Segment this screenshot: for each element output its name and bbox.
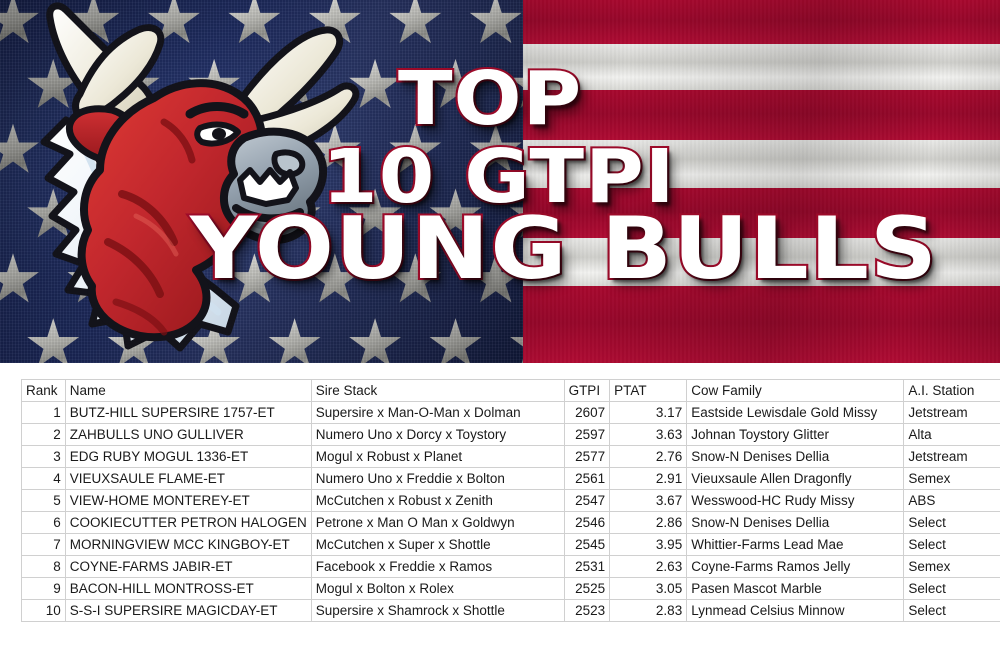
cell-cow-family[interactable]: Snow-N Denises Dellia <box>687 512 904 534</box>
cell-ai-station[interactable]: Jetstream <box>904 402 1000 424</box>
star-icon <box>509 188 523 242</box>
cell-name[interactable]: BUTZ-HILL SUPERSIRE 1757-ET <box>65 402 311 424</box>
col-header-cow-family[interactable]: Cow Family <box>687 380 904 402</box>
cell-name[interactable]: EDG RUBY MOGUL 1336-ET <box>65 446 311 468</box>
cell-gtpi[interactable]: 2523 <box>564 600 610 622</box>
cell-ai-station[interactable]: Semex <box>904 468 1000 490</box>
cell-ptat[interactable]: 2.86 <box>610 512 687 534</box>
star-icon <box>429 59 483 113</box>
table-row[interactable]: 2ZAHBULLS UNO GULLIVERNumero Uno x Dorcy… <box>22 424 1000 446</box>
table-row[interactable]: 3EDG RUBY MOGUL 1336-ETMogul x Robust x … <box>22 446 1000 468</box>
table-header-row: Rank Name Sire Stack GTPI PTAT Cow Famil… <box>22 380 1000 402</box>
cell-gtpi[interactable]: 2607 <box>564 402 610 424</box>
cell-rank[interactable]: 2 <box>22 424 66 446</box>
cell-name[interactable]: MORNINGVIEW MCC KINGBOY-ET <box>65 534 311 556</box>
cell-ptat[interactable]: 2.76 <box>610 446 687 468</box>
cell-sire-stack[interactable]: Numero Uno x Freddie x Bolton <box>311 468 564 490</box>
page-root: TOP 10 GTPI YOUNG BULLS Rank Name Sire S… <box>0 0 1000 645</box>
cell-name[interactable]: S-S-I SUPERSIRE MAGICDAY-ET <box>65 600 311 622</box>
star-icon <box>388 0 442 48</box>
table-row[interactable]: 7MORNINGVIEW MCC KINGBOY-ETMcCutchen x S… <box>22 534 1000 556</box>
cell-ptat[interactable]: 2.63 <box>610 556 687 578</box>
cell-sire-stack[interactable]: McCutchen x Robust x Zenith <box>311 490 564 512</box>
cell-sire-stack[interactable]: Supersire x Shamrock x Shottle <box>311 600 564 622</box>
cell-sire-stack[interactable]: Numero Uno x Dorcy x Toystory <box>311 424 564 446</box>
table-row[interactable]: 6COOKIECUTTER PETRON HALOGENPetrone x Ma… <box>22 512 1000 534</box>
cell-rank[interactable]: 3 <box>22 446 66 468</box>
star-icon <box>509 318 523 363</box>
cell-name[interactable]: ZAHBULLS UNO GULLIVER <box>65 424 311 446</box>
cell-sire-stack[interactable]: Facebook x Freddie x Ramos <box>311 556 564 578</box>
cell-gtpi[interactable]: 2545 <box>564 534 610 556</box>
cell-gtpi[interactable]: 2561 <box>564 468 610 490</box>
cell-cow-family[interactable]: Pasen Mascot Marble <box>687 578 904 600</box>
bull-mascot-logo <box>4 2 374 354</box>
table-row[interactable]: 4VIEUXSAULE FLAME-ETNumero Uno x Freddie… <box>22 468 1000 490</box>
bull-rankings-table: Rank Name Sire Stack GTPI PTAT Cow Famil… <box>21 379 1000 627</box>
cell-cow-family[interactable]: Eastside Lewisdale Gold Missy <box>687 402 904 424</box>
cell-rank[interactable]: 1 <box>22 402 66 424</box>
cell-ai-station[interactable]: Select <box>904 534 1000 556</box>
table-row[interactable]: 9BACON-HILL MONTROSS-ETMogul x Bolton x … <box>22 578 1000 600</box>
cell-ai-station[interactable]: Select <box>904 578 1000 600</box>
cell-cow-family[interactable]: Coyne-Farms Ramos Jelly <box>687 556 904 578</box>
cell-rank[interactable]: 10 <box>22 600 66 622</box>
col-header-ai-station[interactable]: A.I. Station <box>904 380 1000 402</box>
cell-cow-family[interactable]: Whittier-Farms Lead Mae <box>687 534 904 556</box>
col-header-gtpi[interactable]: GTPI <box>564 380 610 402</box>
cell-rank[interactable]: 9 <box>22 578 66 600</box>
table-row[interactable]: 5VIEW-HOME MONTEREY-ETMcCutchen x Robust… <box>22 490 1000 512</box>
cell-ptat[interactable]: 3.67 <box>610 490 687 512</box>
bull-muzzle <box>224 132 323 240</box>
cell-ptat[interactable]: 3.95 <box>610 534 687 556</box>
cell-gtpi[interactable]: 2577 <box>564 446 610 468</box>
cell-gtpi[interactable]: 2525 <box>564 578 610 600</box>
cell-ai-station[interactable]: Alta <box>904 424 1000 446</box>
star-icon <box>429 188 483 242</box>
cell-sire-stack[interactable]: Petrone x Man O Man x Goldwyn <box>311 512 564 534</box>
table-row[interactable]: 1BUTZ-HILL SUPERSIRE 1757-ETSupersire x … <box>22 402 1000 424</box>
col-header-sire-stack[interactable]: Sire Stack <box>311 380 564 402</box>
cell-rank[interactable]: 6 <box>22 512 66 534</box>
cell-cow-family[interactable]: Vieuxsaule Allen Dragonfly <box>687 468 904 490</box>
cell-name[interactable]: COOKIECUTTER PETRON HALOGEN <box>65 512 311 534</box>
cell-cow-family[interactable]: Lynmead Celsius Minnow <box>687 600 904 622</box>
star-icon <box>469 253 523 307</box>
cell-rank[interactable]: 5 <box>22 490 66 512</box>
cell-ptat[interactable]: 3.63 <box>610 424 687 446</box>
star-icon <box>429 318 483 363</box>
cell-sire-stack[interactable]: Supersire x Man-O-Man x Dolman <box>311 402 564 424</box>
cell-ai-station[interactable]: ABS <box>904 490 1000 512</box>
col-header-rank[interactable]: Rank <box>22 380 66 402</box>
cell-ai-station[interactable]: Jetstream <box>904 446 1000 468</box>
cell-gtpi[interactable]: 2547 <box>564 490 610 512</box>
star-icon <box>509 59 523 113</box>
star-icon <box>469 124 523 178</box>
cell-name[interactable]: VIEW-HOME MONTEREY-ET <box>65 490 311 512</box>
cell-ptat[interactable]: 2.83 <box>610 600 687 622</box>
star-icon <box>469 0 523 48</box>
col-header-ptat[interactable]: PTAT <box>610 380 687 402</box>
star-icon <box>388 253 442 307</box>
star-icon <box>388 124 442 178</box>
cell-name[interactable]: BACON-HILL MONTROSS-ET <box>65 578 311 600</box>
cell-gtpi[interactable]: 2531 <box>564 556 610 578</box>
cell-sire-stack[interactable]: Mogul x Robust x Planet <box>311 446 564 468</box>
cell-name[interactable]: COYNE-FARMS JABIR-ET <box>65 556 311 578</box>
cell-gtpi[interactable]: 2597 <box>564 424 610 446</box>
table-row[interactable]: 10S-S-I SUPERSIRE MAGICDAY-ETSupersire x… <box>22 600 1000 622</box>
cell-ai-station[interactable]: Semex <box>904 556 1000 578</box>
cell-gtpi[interactable]: 2546 <box>564 512 610 534</box>
cell-rank[interactable]: 4 <box>22 468 66 490</box>
cell-ptat[interactable]: 3.17 <box>610 402 687 424</box>
table-row[interactable]: 8COYNE-FARMS JABIR-ETFacebook x Freddie … <box>22 556 1000 578</box>
cell-cow-family[interactable]: Wesswood-HC Rudy Missy <box>687 490 904 512</box>
cell-sire-stack[interactable]: Mogul x Bolton x Rolex <box>311 578 564 600</box>
cell-ai-station[interactable]: Select <box>904 600 1000 622</box>
cell-ptat[interactable]: 2.91 <box>610 468 687 490</box>
cell-cow-family[interactable]: Johnan Toystory Glitter <box>687 424 904 446</box>
col-header-name[interactable]: Name <box>65 380 311 402</box>
cell-sire-stack[interactable]: McCutchen x Super x Shottle <box>311 534 564 556</box>
cell-name[interactable]: VIEUXSAULE FLAME-ET <box>65 468 311 490</box>
cell-rank[interactable]: 8 <box>22 556 66 578</box>
banner-graphic: TOP 10 GTPI YOUNG BULLS <box>0 0 1000 363</box>
table-header: Rank Name Sire Stack GTPI PTAT Cow Famil… <box>22 380 1000 402</box>
cell-cow-family[interactable]: Snow-N Denises Dellia <box>687 446 904 468</box>
data-table: Rank Name Sire Stack GTPI PTAT Cow Famil… <box>21 379 1000 622</box>
cell-ptat[interactable]: 3.05 <box>610 578 687 600</box>
table-body: 1BUTZ-HILL SUPERSIRE 1757-ETSupersire x … <box>22 402 1000 622</box>
cell-rank[interactable]: 7 <box>22 534 66 556</box>
cell-ai-station[interactable]: Select <box>904 512 1000 534</box>
